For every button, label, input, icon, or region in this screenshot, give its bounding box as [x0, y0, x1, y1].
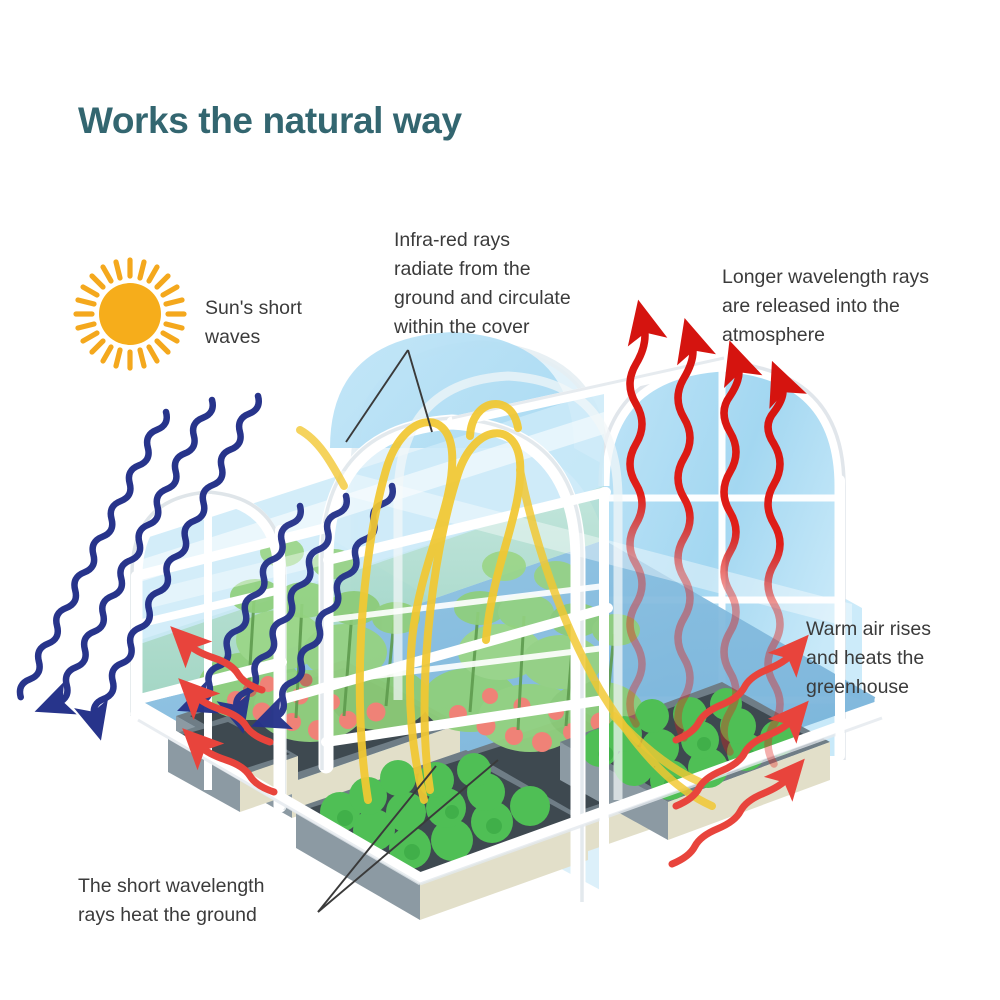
greenhouse-illustration — [0, 0, 1000, 1000]
diagram-page: Works the natural way Sun's short waves … — [0, 0, 1000, 1000]
annotation-infrared-rays: Infra-red rays radiate from the ground a… — [394, 226, 609, 342]
sun-icon — [76, 260, 184, 368]
annotation-warm-air-rises: Warm air rises and heats the greenhouse — [806, 615, 991, 702]
annotation-longer-wavelength: Longer wavelength rays are released into… — [722, 263, 967, 350]
annotation-sun-short-waves: Sun's short waves — [205, 294, 375, 352]
page-title: Works the natural way — [78, 100, 462, 142]
annotation-short-wavelength-ground: The short wavelength rays heat the groun… — [78, 872, 338, 930]
